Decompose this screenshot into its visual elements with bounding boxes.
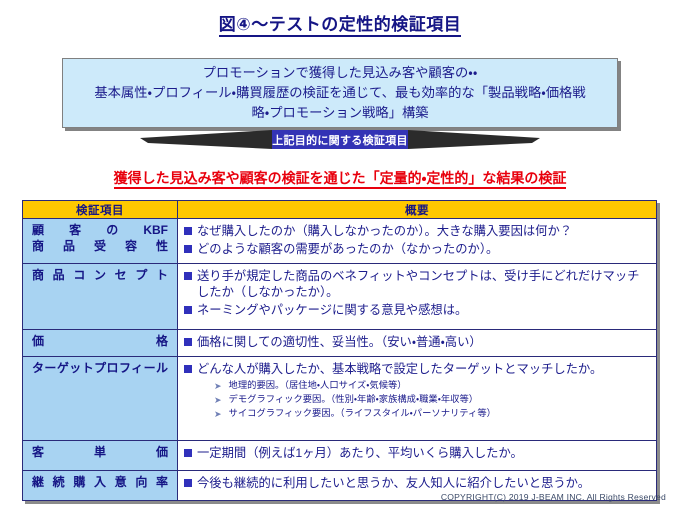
sub-bullet-text: 地理的要因。（居住地・人口サイズ・気候等） bbox=[229, 379, 407, 392]
sub-bullet-text: デモグラフィック要因。（性別・年齢・家族構成・職業・年収等） bbox=[229, 393, 479, 406]
table-row: 客単価 一定期間（例えば1ヶ月）あたり、平均いくら購入したか。 bbox=[23, 441, 657, 471]
square-bullet-icon bbox=[184, 227, 192, 235]
column-header-summary: 概要 bbox=[178, 201, 657, 219]
table-row: 顧客のKBF 商品受容性 なぜ購入したのか（購入しなかったのか）。大きな購入要因… bbox=[23, 219, 657, 264]
bullet-item: 送り手が規定した商品のベネフィットやコンセプトは、受け手にどれだけマッチしたか（… bbox=[184, 268, 650, 300]
sub-bullet-item: ➤ サイコグラフィック要因。（ライフスタイル・パーソナリティ等） bbox=[214, 407, 650, 420]
bullet-item: 一定期間（例えば1ヶ月）あたり、平均いくら購入したか。 bbox=[184, 445, 650, 461]
arrow-wing-right-icon bbox=[408, 130, 540, 156]
square-bullet-icon bbox=[184, 449, 192, 457]
bullet-item: どのような顧客の需要があったのか（なかったのか）。 bbox=[184, 241, 650, 257]
row-summary: 価格に関しての適切性、妥当性。（安い・普通・高い） bbox=[178, 330, 657, 357]
bullet-text: 価格に関しての適切性、妥当性。（安い・普通・高い） bbox=[197, 334, 482, 350]
square-bullet-icon bbox=[184, 479, 192, 487]
bullet-text: どのような顧客の需要があったのか（なかったのか）。 bbox=[197, 241, 498, 257]
square-bullet-icon bbox=[184, 365, 192, 373]
row-item-label: 商品コンセプト bbox=[23, 264, 178, 330]
arrow-bullet-icon: ➤ bbox=[214, 408, 222, 420]
square-bullet-icon bbox=[184, 338, 192, 346]
sub-bullet-text: サイコグラフィック要因。（ライフスタイル・パーソナリティ等） bbox=[229, 407, 496, 420]
objective-line-1: プロモーションで獲得した見込み客や顧客の・・ bbox=[203, 63, 478, 83]
section-subtitle-text: 獲得した見込み客や顧客の検証を通じた「定量的・定性的」な結果の検証 bbox=[114, 170, 567, 189]
page-title: 図④～テストの定性的検証項目 bbox=[0, 10, 680, 35]
bullet-text: 一定期間（例えば1ヶ月）あたり、平均いくら購入したか。 bbox=[197, 445, 523, 461]
row-item-label-line: ターゲットプロフィール bbox=[32, 360, 168, 376]
arrow-bullet-icon: ➤ bbox=[214, 394, 222, 406]
column-header-item: 検証項目 bbox=[23, 201, 178, 219]
bullet-item: どんな人が購入したか、基本戦略で設定したターゲットとマッチしたか。 bbox=[184, 361, 650, 377]
arrow-bullet-icon: ➤ bbox=[214, 380, 222, 392]
row-item-label-line: 価格 bbox=[32, 333, 168, 349]
table-row: 商品コンセプト 送り手が規定した商品のベネフィットやコンセプトは、受け手にどれだ… bbox=[23, 264, 657, 330]
bullet-item: 価格に関しての適切性、妥当性。（安い・普通・高い） bbox=[184, 334, 650, 350]
verification-items-table: 検証項目 概要 顧客のKBF 商品受容性 なぜ購入したのか（購入しなかったのか）… bbox=[22, 200, 657, 501]
row-item-label: 客単価 bbox=[23, 441, 178, 471]
square-bullet-icon bbox=[184, 272, 192, 280]
bullet-text: 送り手が規定した商品のベネフィットやコンセプトは、受け手にどれだけマッチしたか（… bbox=[197, 268, 650, 300]
section-subtitle: 獲得した見込み客や顧客の検証を通じた「定量的・定性的」な結果の検証 bbox=[0, 168, 680, 188]
bullet-item: ネーミングやパッケージに関する意見や感想は。 bbox=[184, 302, 650, 318]
bullet-item: なぜ購入したのか（購入しなかったのか）。大きな購入要因は何か？ bbox=[184, 223, 650, 239]
square-bullet-icon bbox=[184, 306, 192, 314]
row-item-label: ターゲットプロフィール bbox=[23, 357, 178, 441]
row-summary: どんな人が購入したか、基本戦略で設定したターゲットとマッチしたか。 ➤ 地理的要… bbox=[178, 357, 657, 441]
row-summary: なぜ購入したのか（購入しなかったのか）。大きな購入要因は何か？ どのような顧客の… bbox=[178, 219, 657, 264]
sub-bullet-item: ➤ 地理的要因。（居住地・人口サイズ・気候等） bbox=[214, 379, 650, 392]
row-summary: 送り手が規定した商品のベネフィットやコンセプトは、受け手にどれだけマッチしたか（… bbox=[178, 264, 657, 330]
table-header-row: 検証項目 概要 bbox=[23, 201, 657, 219]
row-item-label-line: 継続購入意向率 bbox=[32, 474, 168, 490]
row-item-label: 顧客のKBF 商品受容性 bbox=[23, 219, 178, 264]
sub-bullet-item: ➤ デモグラフィック要因。（性別・年齢・家族構成・職業・年収等） bbox=[214, 393, 650, 406]
objective-line-2: 基本属性・プロフィール・購買履歴の検証を通じて、最も効率的な「製品戦略・価格戦 bbox=[94, 83, 585, 103]
bullet-text: なぜ購入したのか（購入しなかったのか）。大きな購入要因は何か？ bbox=[197, 223, 572, 239]
square-bullet-icon bbox=[184, 245, 192, 253]
sub-bullet-list: ➤ 地理的要因。（居住地・人口サイズ・気候等） ➤ デモグラフィック要因。（性別… bbox=[214, 379, 650, 420]
table-row: 価格 価格に関しての適切性、妥当性。（安い・普通・高い） bbox=[23, 330, 657, 357]
arrow-wing-left-icon bbox=[140, 130, 272, 156]
bullet-text: 今後も継続的に利用したいと思うか、友人知人に紹介したいと思うか。 bbox=[197, 475, 590, 491]
row-item-label-line: 商品受容性 bbox=[32, 238, 168, 254]
bullet-text: ネーミングやパッケージに関する意見や感想は。 bbox=[197, 302, 467, 318]
row-item-label: 価格 bbox=[23, 330, 178, 357]
row-item-label-line: 商品コンセプト bbox=[32, 267, 168, 283]
row-item-label-line: 客単価 bbox=[32, 444, 168, 460]
page-title-text: 図④～テストの定性的検証項目 bbox=[219, 15, 461, 37]
bullet-item: 今後も継続的に利用したいと思うか、友人知人に紹介したいと思うか。 bbox=[184, 475, 650, 491]
bullet-text: どんな人が購入したか、基本戦略で設定したターゲットとマッチしたか。 bbox=[197, 361, 602, 377]
objective-line-3: 略・プロモーション戦略」構築 bbox=[251, 103, 428, 123]
row-item-label: 継続購入意向率 bbox=[23, 471, 178, 501]
arrow-banner-label: 上記目的に関する検証項目 bbox=[272, 130, 408, 149]
copyright-notice: COPYRIGHT(C) 2019 J-BEAM INC. All Rights… bbox=[441, 492, 666, 502]
arrow-banner: 上記目的に関する検証項目 bbox=[140, 130, 540, 158]
row-item-label-line: 顧客のKBF bbox=[32, 222, 168, 238]
objective-box: プロモーションで獲得した見込み客や顧客の・・ 基本属性・プロフィール・購買履歴の… bbox=[62, 58, 618, 128]
table-row: ターゲットプロフィール どんな人が購入したか、基本戦略で設定したターゲットとマッ… bbox=[23, 357, 657, 441]
row-summary: 一定期間（例えば1ヶ月）あたり、平均いくら購入したか。 bbox=[178, 441, 657, 471]
